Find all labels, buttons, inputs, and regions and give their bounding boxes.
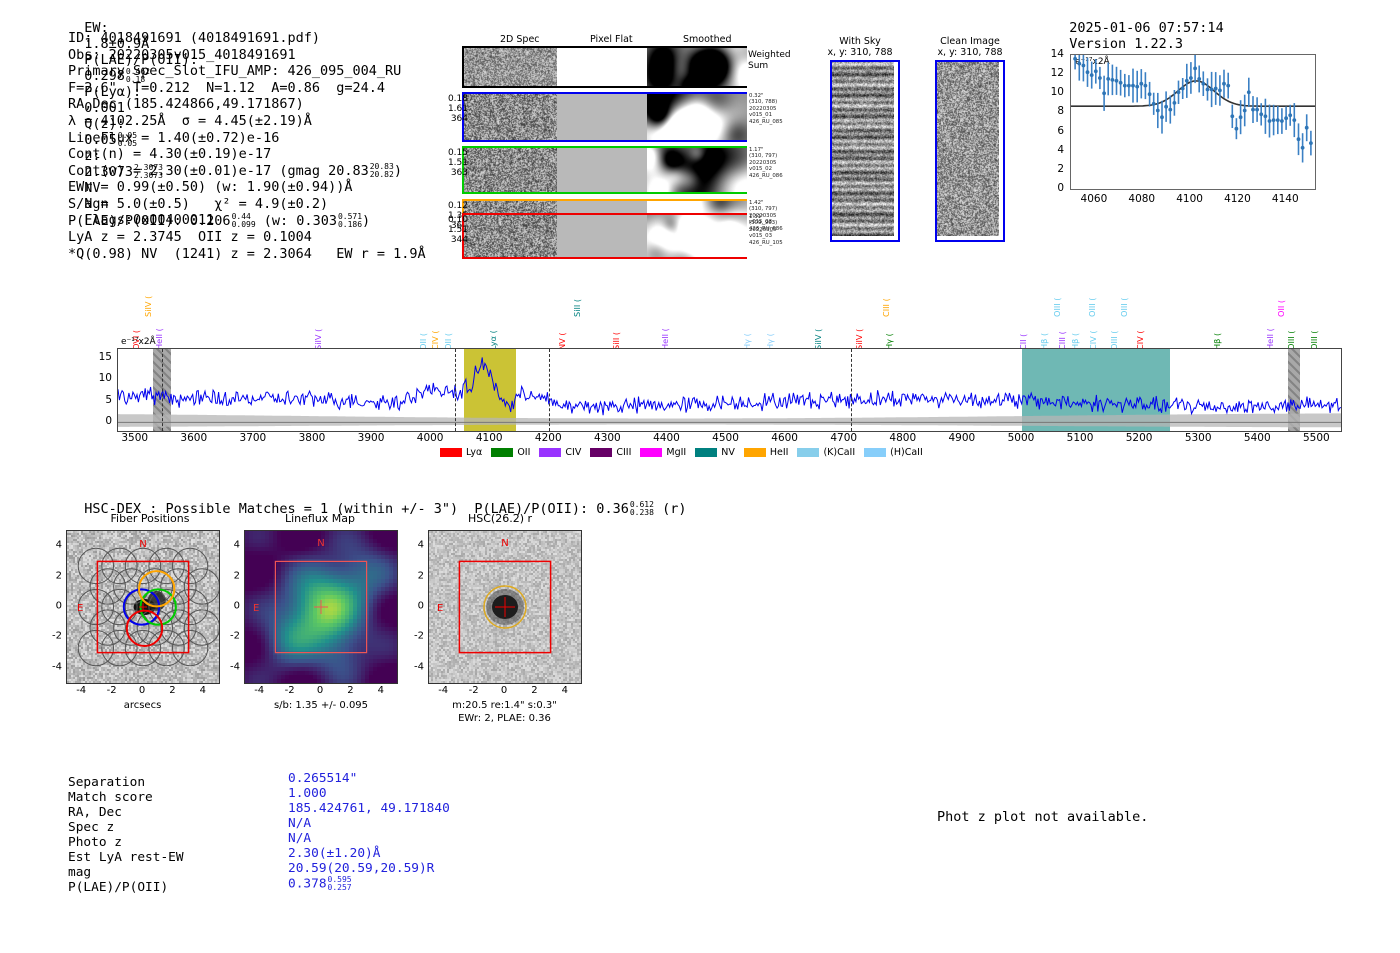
exposure-left-label: 0.18 [436, 94, 468, 104]
header-timestamp-version: 2025-01-06 07:57:14 Version 1.22.3 [1053, 4, 1240, 52]
exposure-left-labels: 0.181.61364 [436, 94, 468, 124]
legend-swatch [695, 448, 717, 457]
emission-line-label: CIV ( [1088, 318, 1098, 350]
weighted-sum-label: Weighted Sum [748, 50, 791, 71]
panel-ytick: 0 [406, 601, 424, 612]
exposure-left-label: 0.10 [436, 215, 468, 225]
emission-line-label: CIV ( [430, 318, 440, 350]
spectrum-xtick: 4000 [417, 432, 444, 444]
exposure-left-label: 1.51 [436, 158, 468, 168]
lineflux-caption: s/b: 1.35 +/- 0.095 [250, 700, 392, 711]
panel-xtick: -4 [76, 685, 86, 696]
cutout-withsky-subtitle: x, y: 310, 788 [820, 47, 900, 58]
panel-title-hsc-r: HSC(26.2) r [420, 512, 580, 525]
panel-ytick: -2 [44, 631, 62, 642]
info-plae-lo: 0.099 [232, 221, 256, 229]
legend-label: CIV [565, 447, 581, 458]
linefit-ytick: 4 [1042, 144, 1064, 156]
legend-swatch [440, 448, 462, 457]
legend-label: OII [517, 447, 530, 458]
hsc-title-post: (r) [662, 501, 686, 517]
info-gmag-lo: 20.82 [370, 171, 394, 179]
exposure-right-label: 426_RU_086 [749, 173, 783, 179]
phot-z-message: Phot z plot not available. [937, 809, 1148, 825]
emission-line-label: NV ( [557, 318, 567, 350]
match-table-keys: SeparationMatch scoreRA, DecSpec zPhoto … [68, 775, 184, 895]
info-params: F=2.6" T=0.212 N=1.12 A=0.86 g=24.4 [68, 80, 426, 97]
spec2d-summed-strip [462, 46, 747, 88]
spectrum-xtick: 3800 [299, 432, 326, 444]
emission-line-label: Hβ ( [1039, 318, 1049, 350]
spectrum-xtick: 5200 [1126, 432, 1153, 444]
fiber-positions-panel[interactable]: NE [66, 530, 220, 684]
emission-line-label: HeII ( [1265, 318, 1275, 350]
match-table-key: Spec z [68, 820, 184, 835]
legend-entry: Lyα [440, 447, 482, 458]
linefit-xtick: 4060 [1081, 193, 1108, 205]
legend-swatch [491, 448, 513, 457]
panel-xtick: -2 [469, 685, 479, 696]
panel-title-fiber-positions: Fiber Positions [60, 512, 240, 525]
exposure-left-label: 0.15 [436, 148, 468, 158]
panel-ytick: 0 [222, 601, 240, 612]
exposure-left-label: 1.61 [436, 104, 468, 114]
panel-xtick: -2 [107, 685, 117, 696]
info-cont-w: Cont(w) = 2.30(±0.01)e-17 (gmag 20.8320.… [68, 163, 426, 180]
panel-xtick: -4 [438, 685, 448, 696]
legend-entry: (K)CaII [797, 447, 855, 458]
col-head-pixelflat: Pixel Flat [590, 34, 633, 45]
spec2d-exposure-strip[interactable] [462, 213, 747, 259]
legend-entry: NV [695, 447, 735, 458]
panel-ytick: -2 [406, 631, 424, 642]
legend-label: MgII [666, 447, 686, 458]
lineflux-map-svg: NE [245, 531, 397, 683]
linefit-xtick: 4120 [1224, 193, 1251, 205]
exposure-left-label: 344 [436, 235, 468, 245]
exposure-right-labels: 1.31"(309, 963)20220305v015_03426_RU_105 [749, 214, 783, 246]
spectrum-xtick: 4500 [712, 432, 739, 444]
hsc-title-lo: 0.238 [630, 509, 654, 517]
col-head-smoothed: Smoothed [683, 34, 732, 45]
hscr-caption: m:20.5 re:1.4" s:0.3" [432, 700, 577, 711]
emission-line-label: Hβ ( [1070, 318, 1080, 350]
emission-line-label: SiII ( [611, 318, 621, 350]
linefit-ytick: 8 [1042, 105, 1064, 117]
legend-entry: OII [491, 447, 530, 458]
spectrum-marker-line [549, 349, 550, 431]
panel-ytick: 0 [44, 601, 62, 612]
info-plae-w-lo: 0.186 [338, 221, 362, 229]
cutout-clean-subtitle: x, y: 310, 788 [925, 47, 1015, 58]
linefit-ytick: 6 [1042, 125, 1064, 137]
legend-label: CIII [616, 447, 631, 458]
info-plae-mid: (w: 0.303 [264, 213, 337, 229]
exposure-left-labels: 0.101.51344 [436, 215, 468, 245]
match-table-value: N/A [288, 831, 450, 846]
match-table-value: 0.265514" [288, 771, 450, 786]
emission-line-label: OIII ( [1119, 281, 1129, 317]
emission-line-label: SiIV ( [813, 318, 823, 350]
spectrum-marker-line [455, 349, 456, 431]
panel-ytick: -4 [222, 661, 240, 672]
cutout-clean-caption: Clean Image x, y: 310, 788 [925, 36, 1015, 58]
match-table-key: Separation [68, 775, 184, 790]
linefit-xtick: 4080 [1128, 193, 1155, 205]
legend-entry: MgII [640, 447, 686, 458]
emission-line-label: Hγ ( [884, 318, 894, 350]
header-datetime: 2025-01-06 07:57:14 [1069, 20, 1223, 36]
info-id: ID: 4018491691 (4018491691.pdf) [68, 30, 426, 47]
info-quality-line: *Q(0.98) NV (1241) z = 2.3064 EW r = 1.9… [68, 246, 426, 263]
spectrum-xtick: 4700 [830, 432, 857, 444]
spectrum-annotation: e⁻¹⁷x2Å [121, 337, 156, 347]
panel-ytick: -2 [222, 631, 240, 642]
col-head-2dspec: 2D Spec [500, 34, 540, 45]
spectrum-xtick: 4300 [594, 432, 621, 444]
spectrum-xtick: 3600 [180, 432, 207, 444]
linefit-xtick: 4100 [1176, 193, 1203, 205]
fiber-positions-svg: NE [67, 531, 219, 683]
match-table-value: 20.59(20.59,20.59)R [288, 861, 450, 876]
exposure-2dspec-image [464, 94, 557, 140]
exposure-pixelflat-image [557, 215, 647, 257]
legend-swatch [539, 448, 561, 457]
hsc-r-svg: NE [429, 531, 581, 683]
source-info-block: ID: 4018491691 (4018491691.pdf) Obs: 202… [68, 30, 426, 262]
legend-entry: CIII [590, 447, 631, 458]
match-table-value: N/A [288, 816, 450, 831]
legend-entry: CIV [539, 447, 581, 458]
exposure-smoothed-image [647, 215, 745, 257]
spectrum-ytick: 10 [90, 372, 112, 384]
match-table-value: 0.3780.5950.257 [288, 876, 450, 892]
legend-entry: (H)CaII [864, 447, 923, 458]
match-table-key: Est LyA rest-EW [68, 850, 184, 865]
linefit-data-svg [1071, 55, 1315, 189]
info-lineflux: LineFlux = 1.40(±0.72)e-16 [68, 130, 426, 147]
info-cont-w-text: Cont(w) = 2.30(±0.01)e-17 (gmag 20.83 [68, 163, 369, 179]
match-plae-lo: 0.257 [328, 884, 352, 892]
spectrum-legend: LyαOIICIVCIIIMgIINVHeII(K)CaII(H)CaII [440, 447, 923, 458]
emission-line-label: CII ( [1018, 318, 1028, 350]
panel-title-lineflux-map: Lineflux Map [240, 512, 400, 525]
summed-2dspec-image [464, 48, 557, 86]
linefit-xtick: 4140 [1272, 193, 1299, 205]
exposure-2dspec-image [464, 148, 557, 192]
panel-ytick: 2 [44, 570, 62, 581]
legend-entry: HeII [744, 447, 789, 458]
emission-line-label: OIII ( [1309, 318, 1319, 350]
panel-ytick: 2 [222, 570, 240, 581]
spectrum-xtick: 5000 [1008, 432, 1035, 444]
cutout-withsky-caption: With Sky x, y: 310, 788 [820, 36, 900, 58]
fiber-xaxis-label: arcsecs [80, 700, 205, 711]
spectrum-ytick: 0 [90, 415, 112, 427]
panel-xtick: 2 [169, 685, 175, 696]
hsc-r-panel[interactable]: NE [428, 530, 582, 684]
match-table-key: mag [68, 865, 184, 880]
spectrum-plot[interactable]: e⁻¹⁷x2Å [117, 348, 1342, 432]
spectrum-xtick: 4400 [653, 432, 680, 444]
legend-swatch [744, 448, 766, 457]
exposure-pixelflat-image [557, 148, 647, 192]
linefit-ytick: 12 [1042, 67, 1064, 79]
match-table-value: 1.000 [288, 786, 450, 801]
exposure-left-label: 363 [436, 168, 468, 178]
emission-line-label: OIII ( [1052, 281, 1062, 317]
panel-xtick: 2 [531, 685, 537, 696]
exposure-smoothed-image [647, 94, 745, 140]
spectrum-xtick: 3700 [240, 432, 267, 444]
info-cont-n: Cont(n) = 4.30(±0.19)e-17 [68, 146, 426, 163]
emission-line-label: OII ( [418, 318, 428, 350]
spectrum-xtick: 5500 [1303, 432, 1330, 444]
spectrum-xtick: 5300 [1185, 432, 1212, 444]
info-ewr: EWr = 0.99(±0.50) (w: 1.90(±0.94))Å [68, 179, 426, 196]
info-plae-post: ) [362, 213, 370, 229]
spectrum-xtick: 4200 [535, 432, 562, 444]
legend-label: HeII [770, 447, 789, 458]
emission-line-label: SiIV ( [313, 318, 323, 350]
emission-line-label: Hγ ( [765, 318, 775, 350]
lineflux-map-panel[interactable]: NE [244, 530, 398, 684]
exposure-right-label: 426_RU_105 [749, 240, 783, 246]
cutout-clean-title: Clean Image [925, 36, 1015, 47]
exposure-right-labels: 1.17"(310, 797)20220305v015_02426_RU_086 [749, 147, 783, 179]
info-lambda-sigma: λ = 4102.25Å σ = 4.45(±2.19)Å [68, 113, 426, 130]
legend-label: NV [721, 447, 735, 458]
spectrum-marker-line [162, 349, 163, 431]
spectrum-ytick: 15 [90, 351, 112, 363]
info-obs: Obs: 20220305v015_4018491691 [68, 47, 426, 64]
exposure-2dspec-image [464, 215, 557, 257]
info-plae-pre: P(LAE)/P(OII): 0.206 [68, 213, 231, 229]
panel-xtick: 4 [200, 685, 206, 696]
emission-line-label: Hγ ( [742, 318, 752, 350]
hscr-caption2: EWr: 2, PLAE: 0.36 [432, 713, 577, 724]
match-table-key: Photo z [68, 835, 184, 850]
panel-ytick: 4 [406, 540, 424, 551]
info-sn-chi2: S/N = 5.0(±0.5) χ² = 4.9(±0.2) [68, 196, 426, 213]
summed-smoothed-image [647, 48, 745, 86]
spectrum-marker-line [851, 349, 852, 431]
emission-line-label: OIII ( [1109, 318, 1119, 350]
spec2d-exposure-strip[interactable] [462, 146, 747, 194]
panel-ytick: 4 [222, 540, 240, 551]
panel-xtick: 4 [378, 685, 384, 696]
spectrum-xtick: 4800 [889, 432, 916, 444]
panel-xtick: 0 [139, 685, 145, 696]
emission-line-label: SiIV ( [854, 318, 864, 350]
cutout-clean-image[interactable] [935, 60, 1005, 242]
emission-line-label: CIII ( [881, 281, 891, 317]
spectrum-xtick: 5400 [1244, 432, 1271, 444]
emission-line-label: OIII ( [1286, 318, 1296, 350]
legend-label: Lyα [466, 447, 482, 458]
linefit-ytick: 14 [1042, 48, 1064, 60]
legend-swatch [640, 448, 662, 457]
spectrum-xtick: 4100 [476, 432, 503, 444]
linefit-plot[interactable]: e⁻¹⁷x2Å 14121086420 40604080410041204140 [1036, 48, 1322, 218]
cutout-withsky-image[interactable] [830, 60, 900, 242]
summed-pixelflat-image [557, 48, 647, 86]
panel-ytick: -4 [406, 661, 424, 672]
spectrum-xtick: 4600 [771, 432, 798, 444]
linefit-ytick: 2 [1042, 163, 1064, 175]
match-table-value: 185.424761, 49.171840 [288, 801, 450, 816]
panel-xtick: 2 [347, 685, 353, 696]
spectrum-xtick: 4900 [948, 432, 975, 444]
exposure-right-labels: 0.32"(310, 788)20220305v015_01426_RU_085 [749, 93, 783, 125]
exposure-left-label: 0.12 [436, 201, 468, 211]
spectrum-ytick: 5 [90, 394, 112, 406]
legend-swatch [797, 448, 819, 457]
emission-line-label: CIII ( [1057, 318, 1067, 350]
emission-line-label: SiIV ( [143, 281, 153, 317]
panel-xtick: 0 [317, 685, 323, 696]
info-cont-w-post: ) [394, 163, 402, 179]
info-primary-spec: Primary Spec_Slot_IFU_AMP: 426_095_004_R… [68, 63, 426, 80]
spectrum-data-svg [118, 349, 1341, 431]
match-table-values: 0.265514"1.000185.424761, 49.171840N/AN/… [288, 771, 450, 892]
exposure-smoothed-image [647, 148, 745, 192]
legend-label: (H)CaII [890, 447, 923, 458]
linefit-ytick: 10 [1042, 86, 1064, 98]
match-table-key: RA, Dec [68, 805, 184, 820]
match-table-key: Match score [68, 790, 184, 805]
legend-swatch [864, 448, 886, 457]
emission-line-label: SiII ( [572, 281, 582, 317]
spectrum-xtick: 3900 [358, 432, 385, 444]
legend-label: (K)CaII [823, 447, 855, 458]
emission-line-label: OIII ( [1087, 281, 1097, 317]
emission-line-label: Lyα ( [488, 318, 498, 350]
info-plae: P(LAE)/P(OII): 0.2060.440.099 (w: 0.3030… [68, 213, 426, 230]
emission-line-label: OII ( [443, 318, 453, 350]
emission-line-label: CIV ( [1135, 318, 1145, 350]
match-table-key: P(LAE)/P(OII) [68, 880, 184, 895]
spectrum-xtick: 5100 [1067, 432, 1094, 444]
panel-ytick: -4 [44, 661, 62, 672]
emission-line-label: Hβ ( [1212, 318, 1222, 350]
exposure-left-labels: 0.151.51363 [436, 148, 468, 178]
exposure-left-label: 364 [436, 114, 468, 124]
spectrum-xtick: 3500 [121, 432, 148, 444]
legend-swatch [590, 448, 612, 457]
linefit-ytick: 0 [1042, 182, 1064, 194]
panel-xtick: 4 [562, 685, 568, 696]
emission-line-label: HeII ( [660, 318, 670, 350]
panel-ytick: 2 [406, 570, 424, 581]
cutout-withsky-title: With Sky [820, 36, 900, 47]
emission-line-label: OII ( [1276, 281, 1286, 317]
match-table-value: 2.30(±1.20)Å [288, 846, 450, 861]
info-radec: RA,Dec (185.424866,49.171867) [68, 96, 426, 113]
panel-xtick: 0 [501, 685, 507, 696]
panel-ytick: 4 [44, 540, 62, 551]
panel-xtick: -2 [285, 685, 295, 696]
spec2d-exposure-strip[interactable] [462, 92, 747, 142]
panel-xtick: -4 [254, 685, 264, 696]
exposure-right-label: 426_RU_085 [749, 119, 783, 125]
exposure-pixelflat-image [557, 94, 647, 140]
exposure-left-label: 1.51 [436, 225, 468, 235]
info-redshifts: LyA z = 2.3745 OII z = 0.1004 [68, 229, 426, 246]
